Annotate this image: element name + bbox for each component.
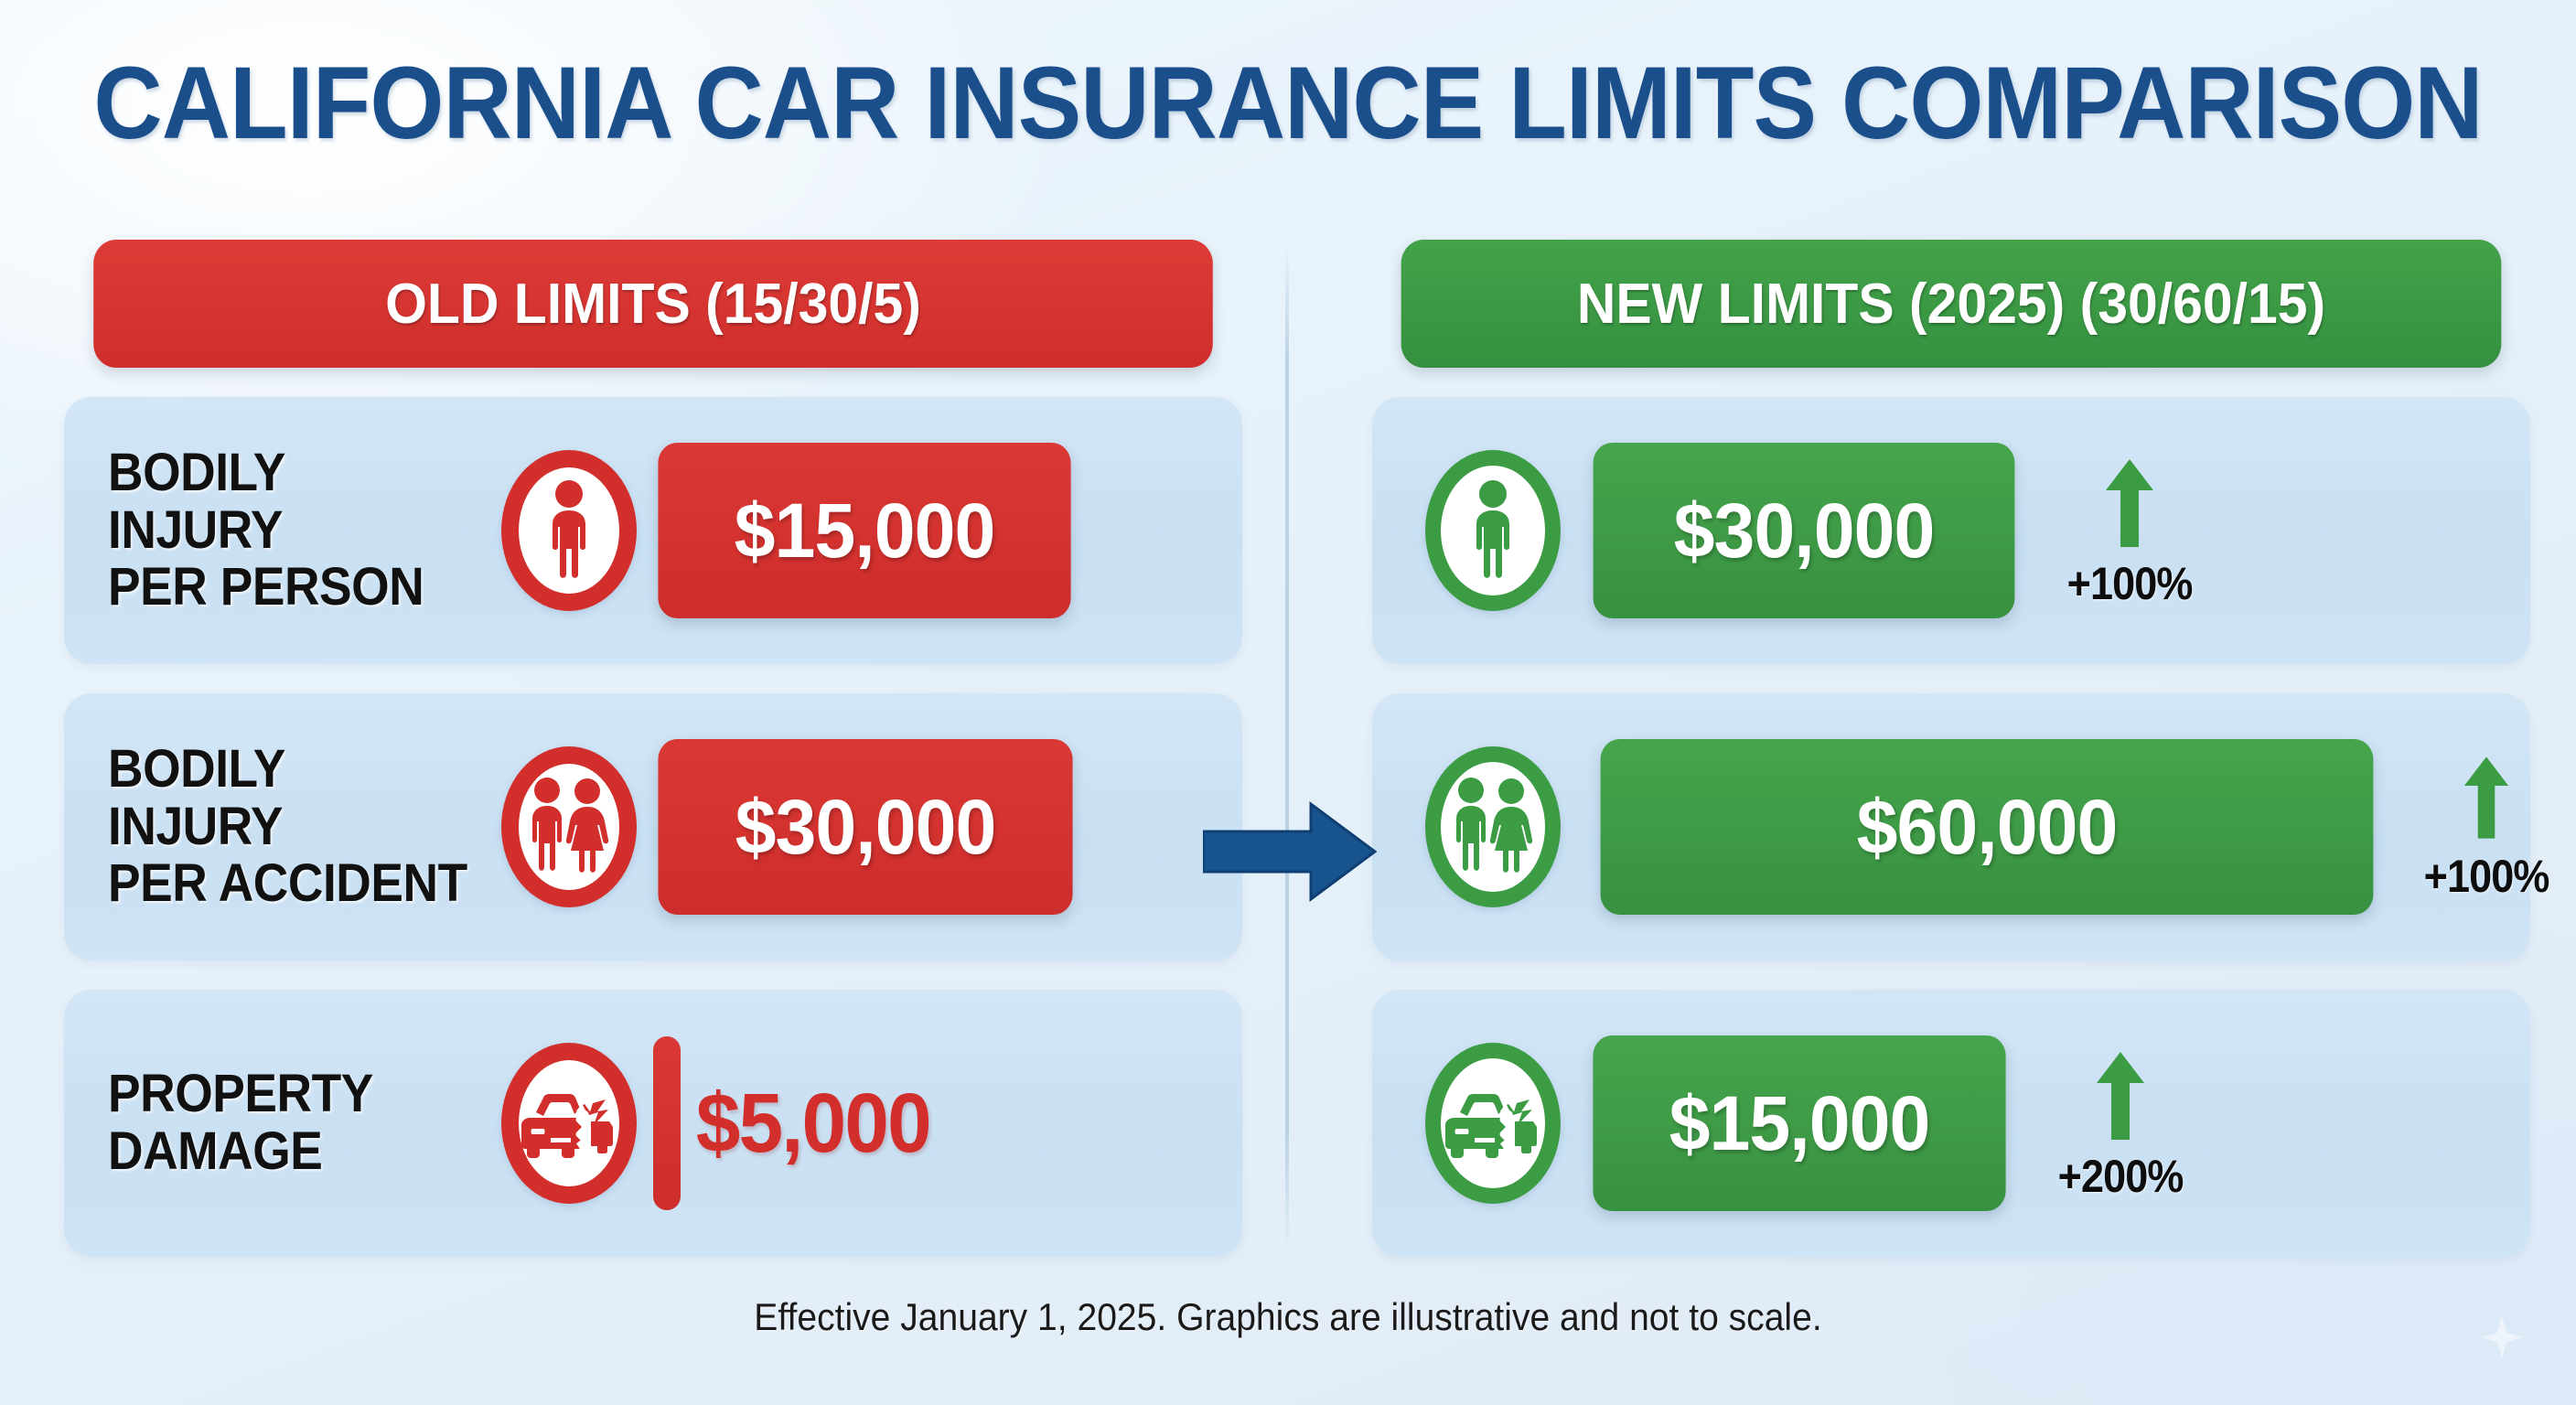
change-bodily-injury-per-person: +100% — [2060, 459, 2199, 610]
label-line-1: BODILY INJURY — [108, 445, 470, 559]
new-limits-column: NEW LIMITS (2025) (30/60/15) $30,000 +10… — [1372, 240, 2530, 1257]
new-row-bodily-injury-per-person: $30,000 +100% — [1372, 397, 2530, 664]
car-crash-icon — [501, 1043, 637, 1204]
sparkle-icon — [2477, 1314, 2527, 1368]
label-line-2: PER ACCIDENT — [108, 855, 470, 913]
old-amount-property-damage: $5,000 — [696, 1076, 930, 1172]
row-label-bodily-injury-per-person: BODILY INJURY PER PERSON — [108, 445, 470, 617]
change-percent: +100% — [2424, 850, 2549, 903]
infographic-canvas: CALIFORNIA CAR INSURANCE LIMITS COMPARIS… — [0, 0, 2576, 1405]
new-amount-bodily-injury-per-person: $30,000 — [1594, 443, 2015, 618]
arrow-up-icon — [2463, 756, 2510, 844]
label-line-1: BODILY INJURY — [108, 741, 470, 855]
row-label-property-damage: PROPERTY DAMAGE — [108, 1066, 470, 1180]
change-property-damage: +200% — [2051, 1052, 2190, 1203]
person-icon — [501, 450, 637, 611]
row-label-bodily-injury-per-accident: BODILY INJURY PER ACCIDENT — [108, 741, 470, 913]
two-people-icon — [1425, 746, 1561, 907]
old-amount-bodily-injury-per-person: $15,000 — [658, 443, 1070, 618]
new-row-bodily-injury-per-accident: $60,000 +100% — [1372, 693, 2530, 960]
change-bodily-injury-per-accident: +100% — [2417, 756, 2556, 903]
change-percent: +200% — [2058, 1150, 2184, 1203]
old-row-bodily-injury-per-accident: BODILY INJURY PER ACCIDENT $30,000 — [64, 693, 1242, 960]
old-to-new-arrow — [1203, 800, 1377, 907]
person-icon — [1425, 450, 1561, 611]
new-row-property-damage: $15,000 +200% — [1372, 990, 2530, 1257]
change-percent: +100% — [2067, 557, 2193, 610]
old-amount-bodily-injury-per-accident: $30,000 — [658, 739, 1072, 915]
arrow-up-icon — [2104, 459, 2155, 552]
old-limits-header: OLD LIMITS (15/30/5) — [93, 240, 1213, 368]
new-amount-property-damage: $15,000 — [1593, 1035, 2005, 1211]
arrow-up-icon — [2095, 1052, 2146, 1144]
column-divider — [1285, 245, 1289, 1251]
page-title: CALIFORNIA CAR INSURANCE LIMITS COMPARIS… — [91, 44, 2486, 162]
label-line-1: PROPERTY — [108, 1066, 470, 1123]
old-row-property-damage: PROPERTY DAMAGE $5,000 — [64, 990, 1242, 1257]
new-limits-header: NEW LIMITS (2025) (30/60/15) — [1401, 240, 2502, 368]
label-line-2: PER PERSON — [108, 559, 470, 617]
label-line-2: DAMAGE — [108, 1123, 470, 1181]
two-people-icon — [501, 746, 637, 907]
old-limits-column: OLD LIMITS (15/30/5) BODILY INJURY PER P… — [64, 240, 1242, 1257]
old-row-bodily-injury-per-person: BODILY INJURY PER PERSON $15,000 — [64, 397, 1242, 664]
new-amount-bodily-injury-per-accident: $60,000 — [1601, 739, 2374, 915]
old-amount-bar-property-damage — [653, 1036, 681, 1210]
footnote: Effective January 1, 2025. Graphics are … — [91, 1295, 2486, 1339]
car-crash-icon — [1425, 1043, 1561, 1204]
